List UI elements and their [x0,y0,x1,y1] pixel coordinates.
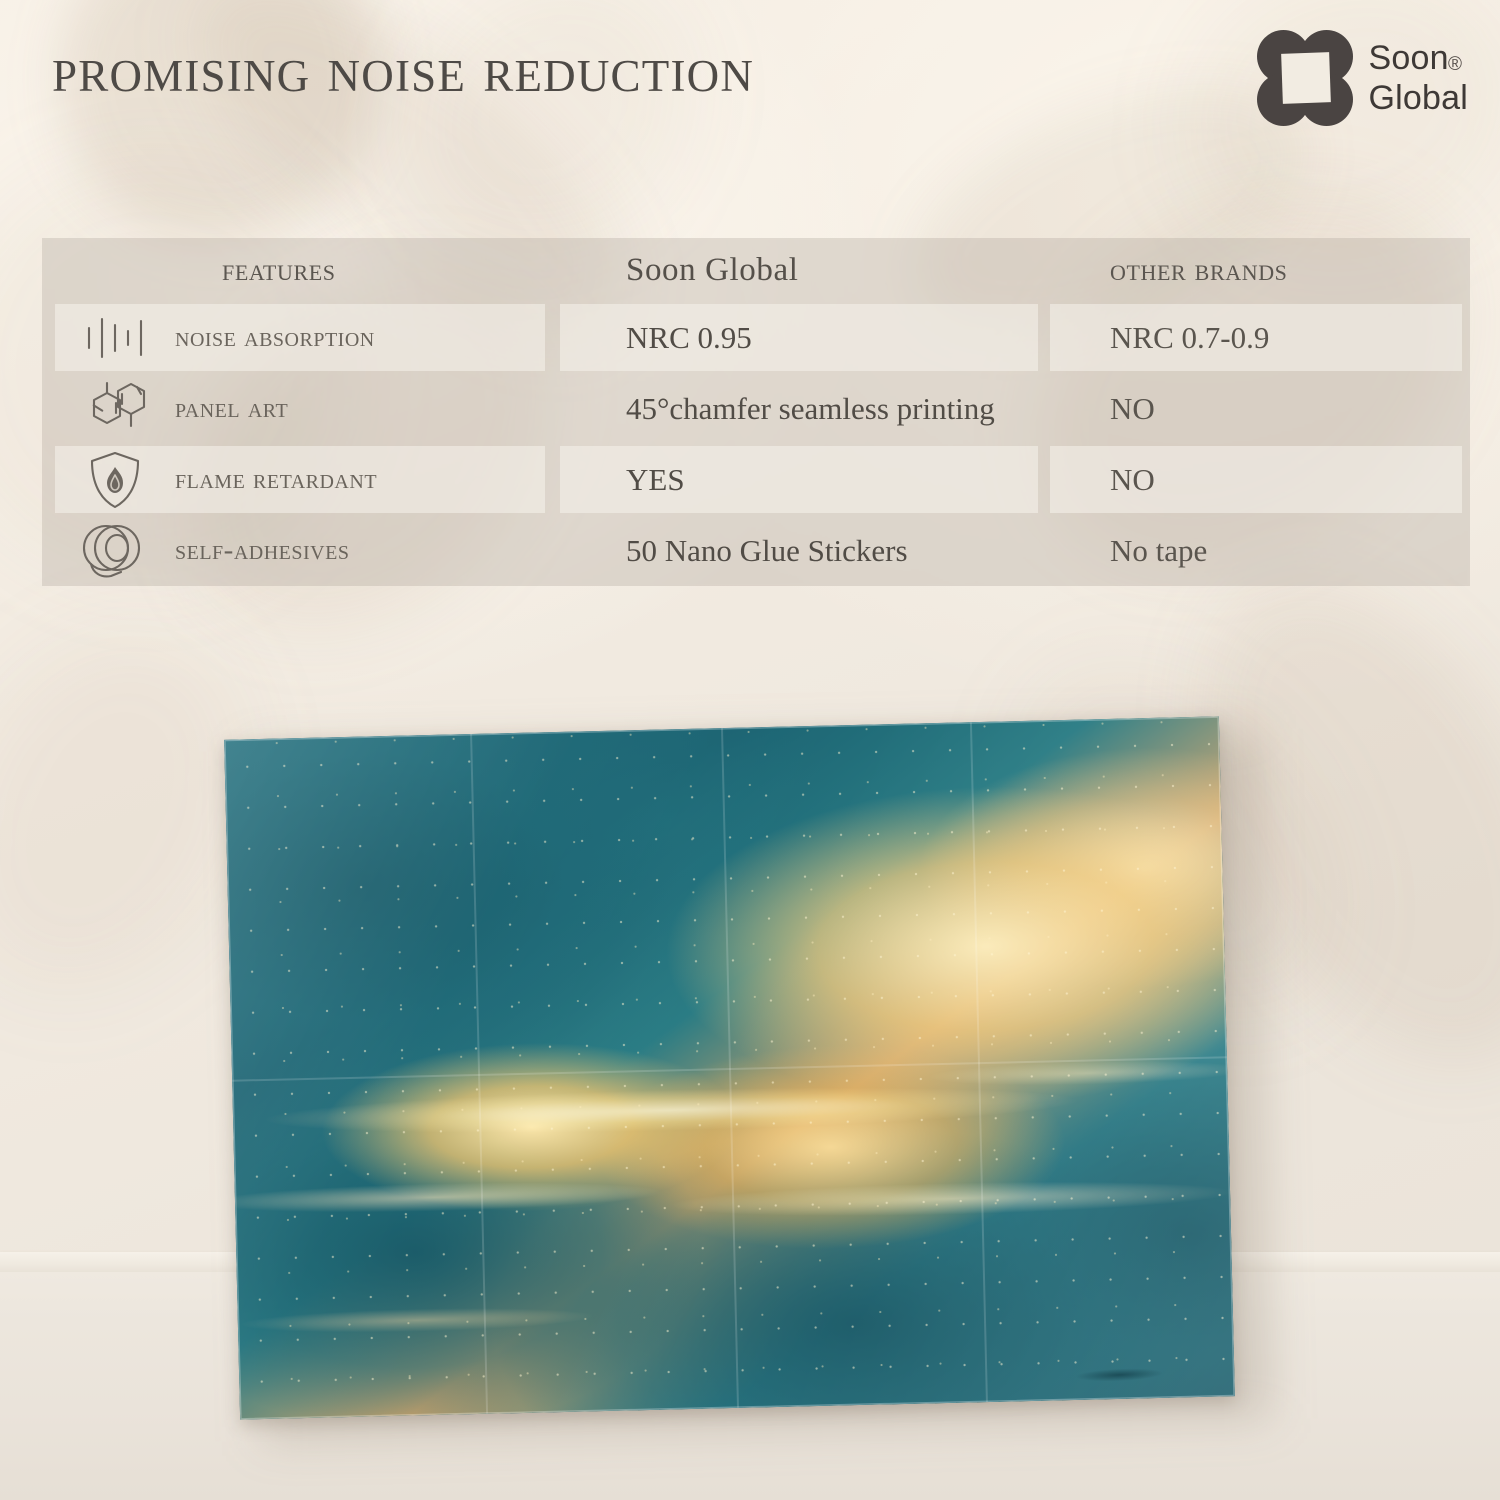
column-header-soon-global: Soon Global [626,252,799,289]
other-brands-cell: NRC 0.7-0.9 [1050,304,1462,371]
table-row: Noise Absorption NRC 0.95 NRC 0.7-0.9 [42,304,1470,371]
soon-global-cell: 45°chamfer seamless printing [560,375,1038,442]
table-header-row: Features Soon Global Other Brands [42,238,1470,304]
soon-global-cell: NRC 0.95 [560,304,1038,371]
logo-center-square [1281,52,1331,104]
soon-global-value: 50 Nano Glue Stickers [560,533,908,569]
other-brands-value: NRC 0.7-0.9 [1050,320,1269,356]
feature-cell: Flame Retardant [55,446,545,513]
other-brands-value: NO [1050,462,1155,498]
page-title: Promising Noise Reduction [52,36,754,103]
flame-shield-icon [55,449,175,511]
product-marketing-image: Promising Noise Reduction Soon Global ® … [0,0,1500,1500]
acoustic-art-panel [196,700,1256,1420]
comparison-table: Features Soon Global Other Brands Noise … [42,238,1470,586]
other-brands-value: NO [1050,391,1155,427]
feature-cell: Self-Adhesives [55,517,545,584]
other-brands-value: No tape [1050,533,1207,569]
soon-global-cell: 50 Nano Glue Stickers [560,517,1038,584]
soon-global-value: YES [560,462,685,498]
panel-edge-highlight [224,716,1235,1419]
other-brands-cell: NO [1050,446,1462,513]
feature-label: Panel Art [175,392,288,425]
hexagon-molecule-icon [55,378,175,440]
table-row: Flame Retardant YES NO [42,446,1470,513]
registered-trademark-symbol: ® [1448,54,1462,76]
brand-name: Soon Global [1369,38,1468,118]
soon-global-value: NRC 0.95 [560,320,752,356]
column-header-other-brands: Other Brands [1110,252,1288,288]
quatrefoil-logo-icon [1257,30,1353,126]
brand-logo: Soon Global ® [1257,30,1468,126]
feature-label: Flame Retardant [175,463,377,496]
table-row: Self-Adhesives 50 Nano Glue Stickers No … [42,517,1470,584]
sound-wave-icon [55,312,175,364]
brand-name-line2: Global [1369,78,1468,118]
feature-cell: Noise Absorption [55,304,545,371]
panel-artwork [224,716,1235,1419]
feature-label: Noise Absorption [175,321,375,354]
other-brands-cell: No tape [1050,517,1462,584]
tape-roll-icon [55,521,175,581]
feature-label: Self-Adhesives [175,534,349,567]
table-row: Panel Art 45°chamfer seamless printing N… [42,375,1470,442]
other-brands-cell: NO [1050,375,1462,442]
column-header-features: Features [222,252,336,288]
feature-cell: Panel Art [55,375,545,442]
soon-global-value: 45°chamfer seamless printing [560,391,995,427]
soon-global-cell: YES [560,446,1038,513]
